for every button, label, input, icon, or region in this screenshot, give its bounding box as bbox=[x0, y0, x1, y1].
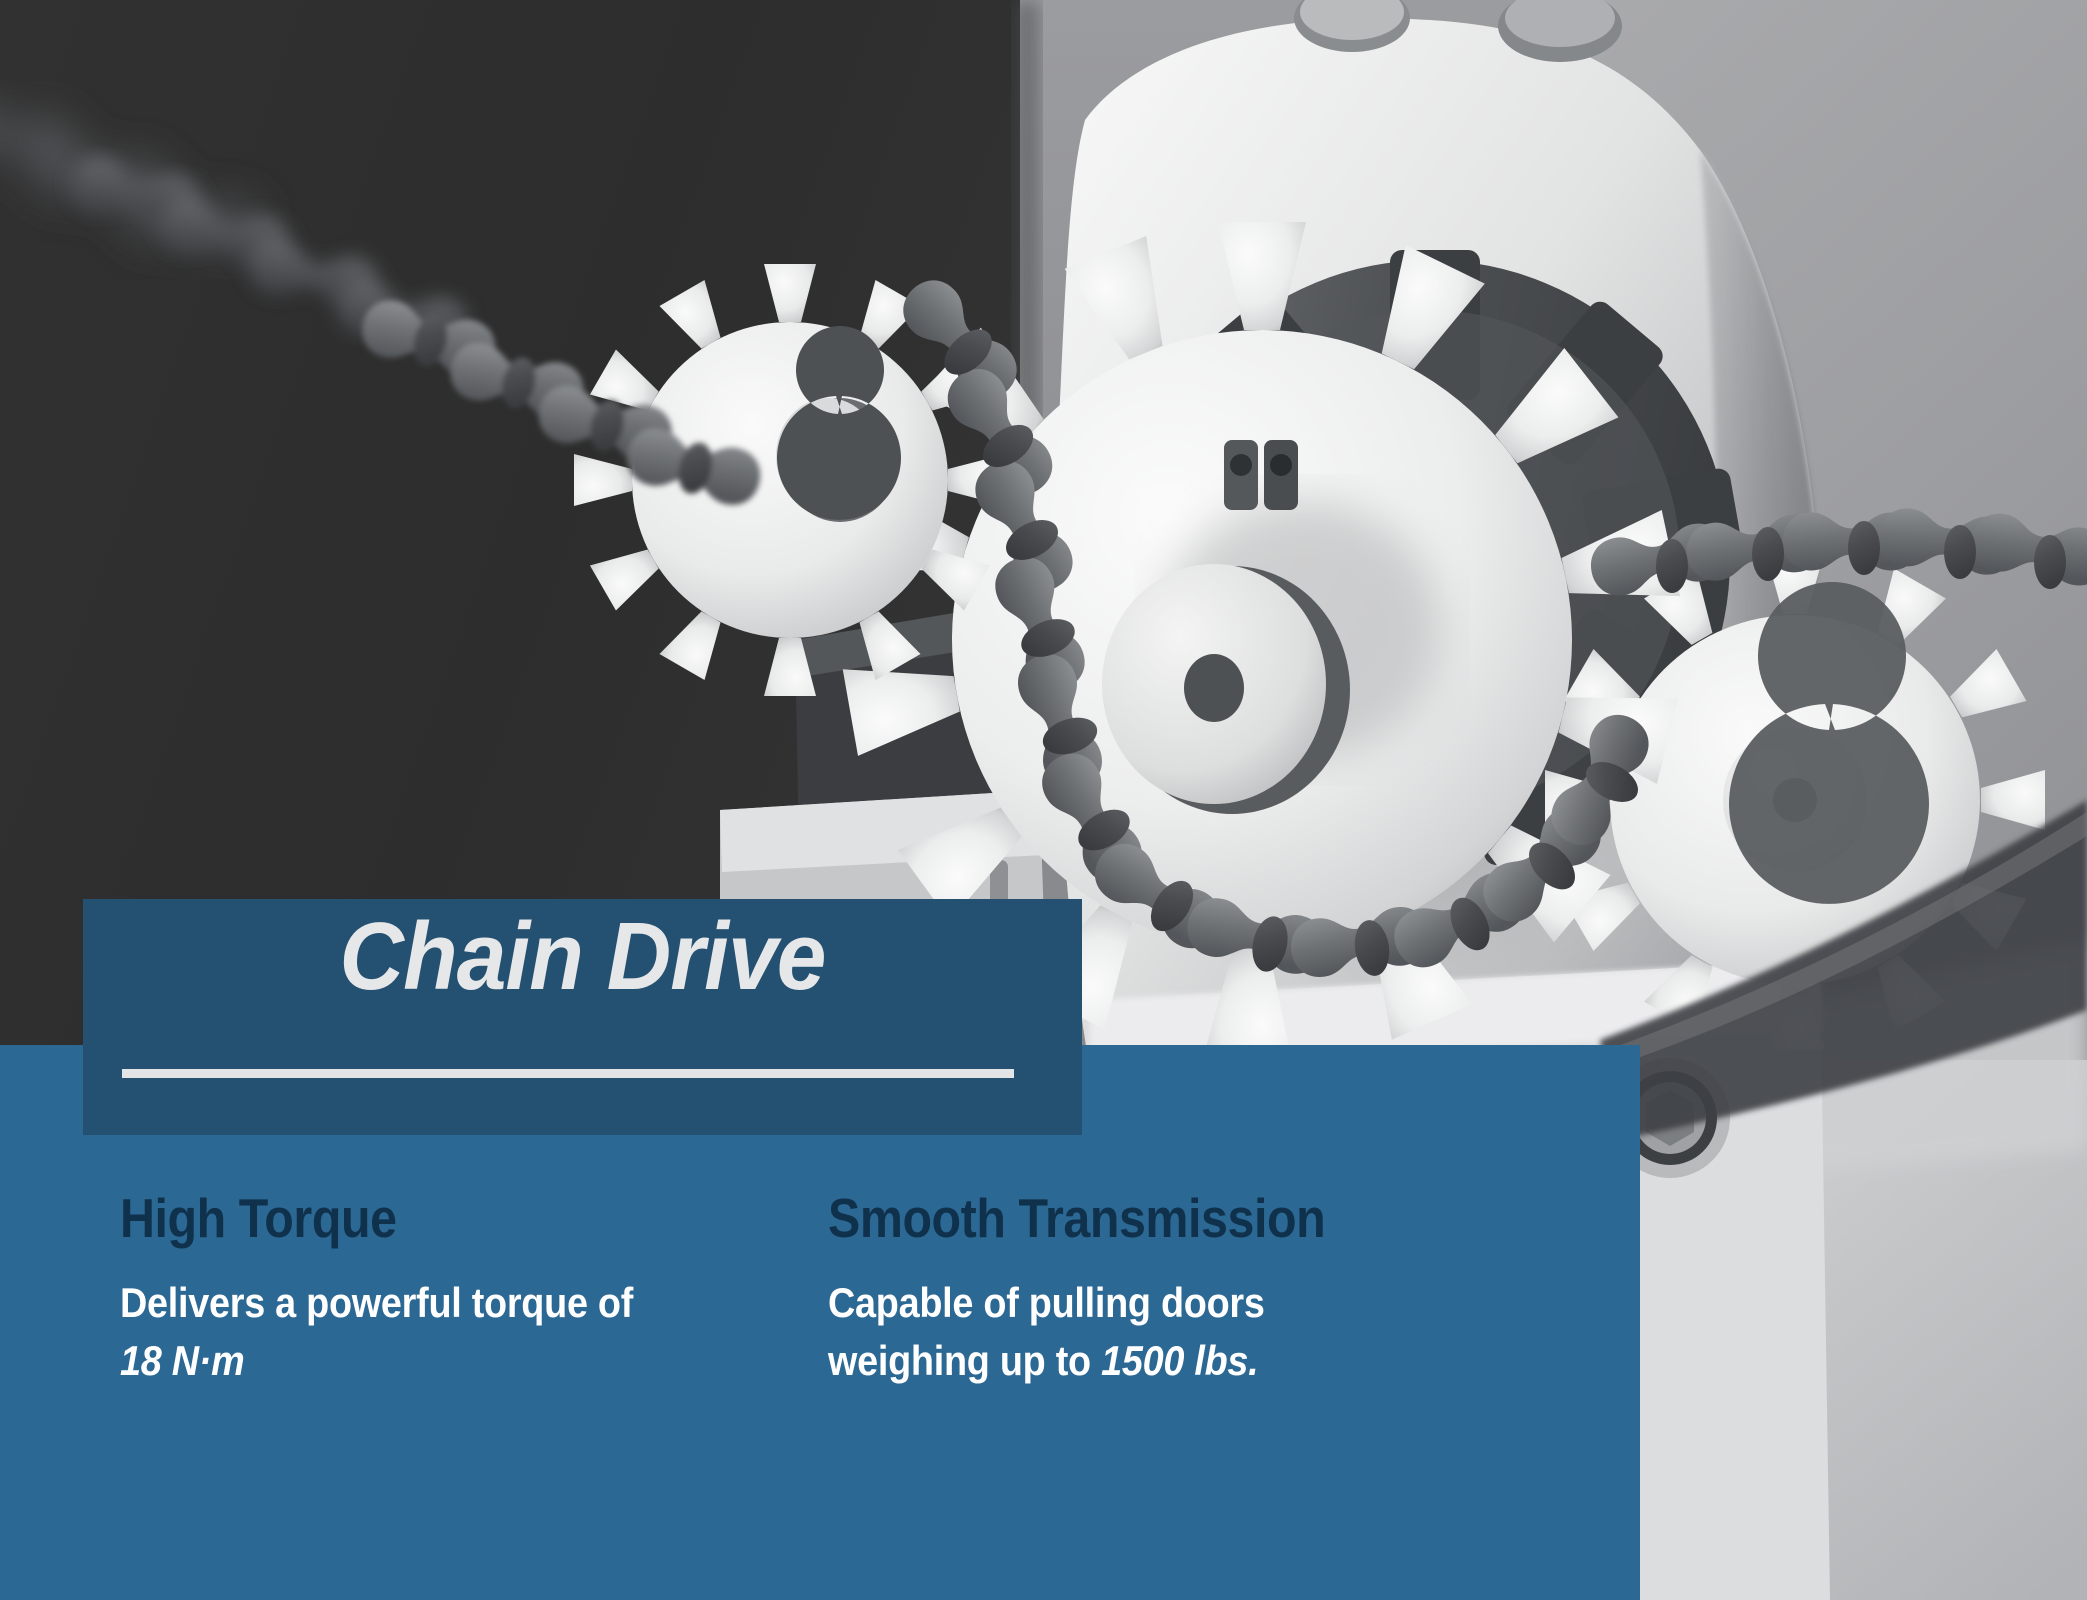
feature-body: Capable of pulling doors weighing up to … bbox=[828, 1274, 1404, 1390]
slide-canvas: Chain Drive High Torque Delivers a power… bbox=[0, 0, 2087, 1600]
feature-body-emphasis: 18 N·m bbox=[120, 1337, 244, 1384]
feature-heading: Smooth Transmission bbox=[828, 1190, 1543, 1248]
feature-body-emphasis: 1500 lbs. bbox=[1101, 1337, 1258, 1384]
title-underline-rule bbox=[122, 1069, 1014, 1078]
feature-body: Delivers a powerful torque of 18 N·m bbox=[120, 1274, 651, 1390]
feature-heading: High Torque bbox=[120, 1190, 639, 1248]
feature-list: High Torque Delivers a powerful torque o… bbox=[0, 1190, 1640, 1520]
feature-body-prefix: Delivers a powerful torque of bbox=[120, 1279, 633, 1326]
title-plate: Chain Drive bbox=[83, 899, 1082, 1135]
feature-smooth-transmission: Smooth Transmission Capable of pulling d… bbox=[710, 1190, 1640, 1520]
feature-high-torque: High Torque Delivers a powerful torque o… bbox=[0, 1190, 710, 1520]
page-title: Chain Drive bbox=[118, 909, 1047, 1005]
